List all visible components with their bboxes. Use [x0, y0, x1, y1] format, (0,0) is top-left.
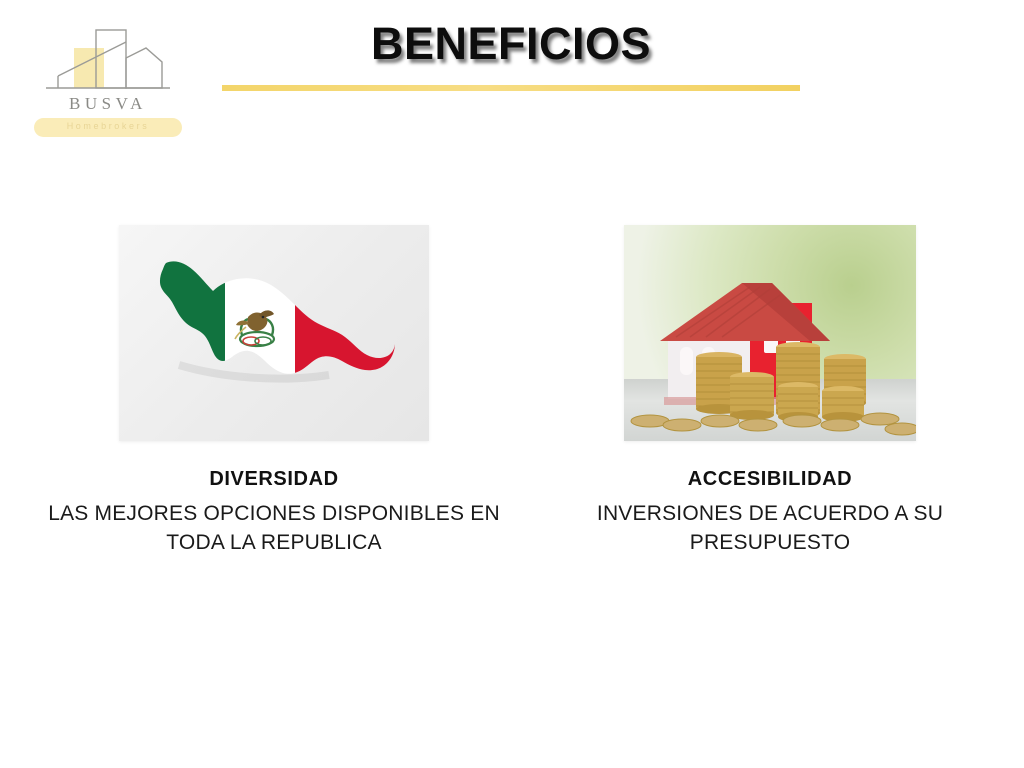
benefit-caption: DIVERSIDAD LAS MEJORES OPCIONES DISPONIB…	[24, 467, 524, 558]
mexico-map-flag-image	[119, 225, 429, 441]
benefit-heading: ACCESIBILIDAD	[530, 467, 1010, 491]
page-title: BENEFICIOS	[222, 18, 800, 70]
benefit-heading: DIVERSIDAD	[24, 467, 524, 491]
benefit-column-accesibilidad: ACCESIBILIDAD INVERSIONES DE ACUERDO A S…	[530, 225, 1010, 558]
title-underline-rule	[222, 85, 800, 91]
benefit-column-diversidad: DIVERSIDAD LAS MEJORES OPCIONES DISPONIB…	[24, 225, 524, 558]
benefit-body: LAS MEJORES OPCIONES DISPONIBLES EN TODA…	[24, 500, 524, 558]
brand-logo[interactable]: BUSVA Homebrokers	[28, 22, 188, 142]
logo-tagline: Homebrokers	[34, 121, 182, 131]
benefit-body: INVERSIONES DE ACUERDO A SU PRESUPUESTO	[530, 500, 1010, 558]
slide-canvas: BUSVA Homebrokers BENEFICIOS	[0, 0, 1024, 768]
benefit-caption: ACCESIBILIDAD INVERSIONES DE ACUERDO A S…	[530, 467, 1010, 558]
house-and-coins-image	[624, 225, 916, 441]
logo-wordmark: BUSVA	[28, 94, 188, 114]
building-outline-icon	[28, 22, 188, 102]
